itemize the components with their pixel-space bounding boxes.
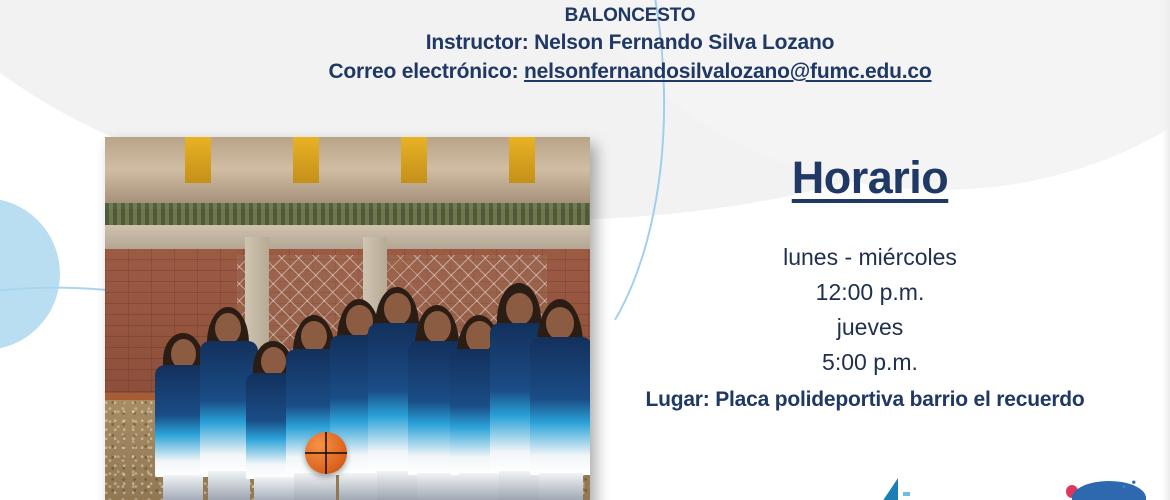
arrow-logo-accent-icon	[903, 492, 910, 496]
email-line: Correo electrónico: nelsonfernandosilval…	[180, 59, 1080, 86]
arrow-logo-icon	[882, 478, 898, 500]
photo-roof-beam	[185, 137, 211, 183]
schedule-line-days-1: lunes - miércoles	[620, 240, 1120, 275]
instructor-line: Instructor: Nelson Fernando Silva Lozano	[180, 30, 1080, 57]
schedule-heading: Horario	[620, 152, 1120, 204]
institution-logo-specks-icon	[1078, 478, 1140, 492]
email-link[interactable]: nelsonfernandosilvalozano@fumc.edu.co	[524, 60, 931, 83]
schedule-line-time-1: 12:00 p.m.	[620, 275, 1120, 310]
team-photo-content	[105, 137, 590, 500]
photo-roof-beam	[401, 137, 427, 183]
background-right-edge-shade	[1162, 0, 1170, 500]
slide-canvas: BALONCESTO Instructor: Nelson Fernando S…	[0, 0, 1170, 500]
header-block: BALONCESTO Instructor: Nelson Fernando S…	[180, 4, 1080, 86]
team-photo	[105, 137, 590, 500]
location-text: Lugar: Placa polideportiva barrio el rec…	[600, 388, 1130, 412]
photo-lintel	[105, 225, 590, 249]
schedule-line-time-2: 5:00 p.m.	[620, 345, 1120, 380]
email-label: Correo electrónico:	[328, 60, 518, 83]
photo-roof-beam	[509, 137, 535, 183]
page-title: BALONCESTO	[180, 4, 1080, 28]
basketball	[305, 432, 347, 474]
photo-roof-mesh	[105, 203, 590, 225]
photo-roof-beam	[293, 137, 319, 183]
schedule-list: lunes - miércoles 12:00 p.m. jueves 5:00…	[620, 240, 1120, 380]
schedule-line-days-2: jueves	[620, 310, 1120, 345]
